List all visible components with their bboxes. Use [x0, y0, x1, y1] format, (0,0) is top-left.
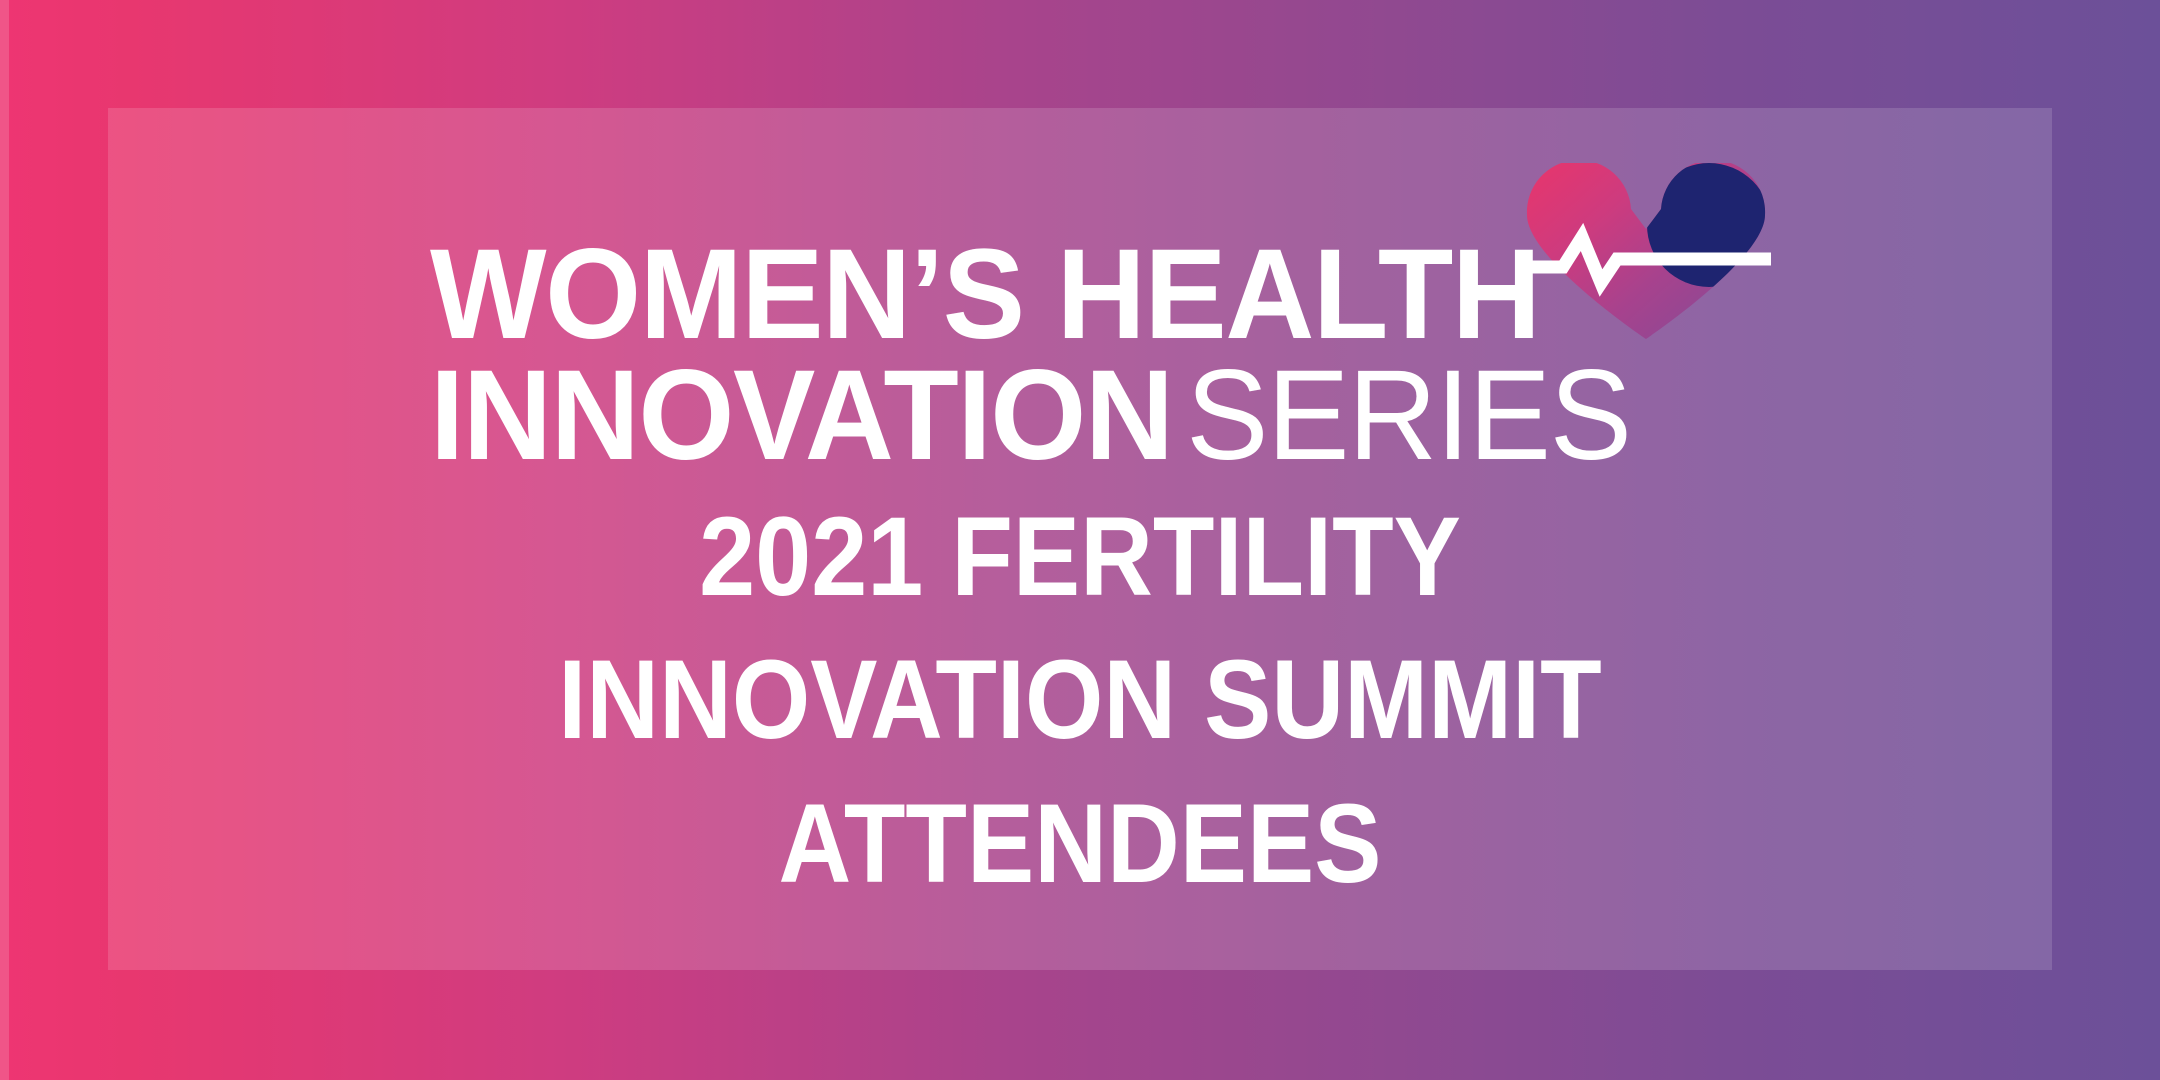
brand-word-series: SERIES	[1186, 344, 1630, 487]
heart-navy-lobe	[1647, 163, 1771, 287]
event-title-line2: INNOVATION SUMMIT	[108, 628, 2052, 771]
event-title-line1: 2021 FERTILITY	[108, 485, 2052, 628]
event-title-line3: ATTENDEES	[108, 772, 2052, 915]
brand-headline-line2: INNOVATIONSERIES	[430, 353, 1742, 480]
event-banner: WOMEN’S HEALTH INNOVATIONSERIES	[0, 0, 2160, 1080]
event-title-block: 2021 FERTILITY INNOVATION SUMMIT ATTENDE…	[0, 485, 2160, 915]
banner-content: WOMEN’S HEALTH INNOVATIONSERIES	[0, 0, 2160, 1080]
heart-pulse-icon	[1519, 163, 1773, 339]
brand-word-innovation: INNOVATION	[430, 344, 1173, 487]
